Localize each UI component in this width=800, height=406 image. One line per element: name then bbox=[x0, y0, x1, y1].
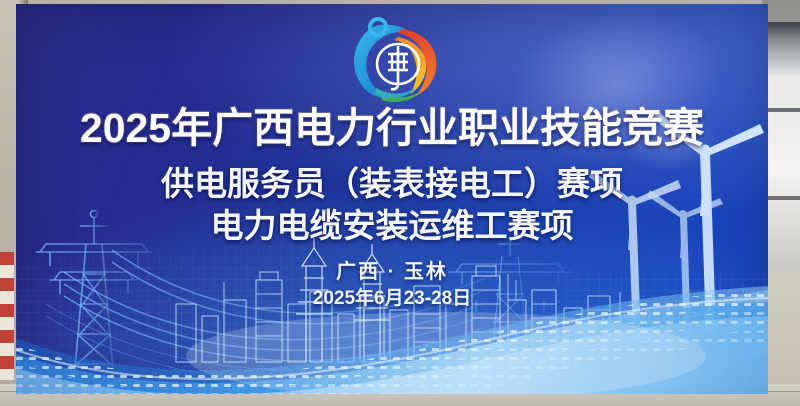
banner-text-block: 2025年广西电力行业职业技能竞赛 供电服务员（装表接电工）赛项 电力电缆安装运… bbox=[16, 4, 768, 394]
banner-subtitle-2: 电力电缆安装运维工赛项 bbox=[16, 209, 768, 242]
banner-location: 广西 · 玉林 bbox=[16, 262, 768, 282]
window-mullion bbox=[764, 108, 800, 112]
right-window bbox=[764, 22, 800, 272]
logo-emblem bbox=[377, 44, 419, 89]
banner-date: 2025年6月23-28日 bbox=[16, 289, 768, 308]
event-backdrop-banner: 2025年广西电力行业职业技能竞赛 供电服务员（装表接电工）赛项 电力电缆安装运… bbox=[16, 4, 768, 394]
red-striped-post bbox=[0, 252, 14, 380]
window-mullion bbox=[764, 196, 800, 200]
banner-title: 2025年广西电力行业职业技能竞赛 bbox=[16, 108, 768, 149]
photograph: 2025年广西电力行业职业技能竞赛 供电服务员（装表接电工）赛项 电力电缆安装运… bbox=[0, 0, 800, 406]
banner-subtitle-1: 供电服务员（装表接电工）赛项 bbox=[16, 167, 768, 200]
china-southern-power-grid-logo bbox=[338, 12, 446, 108]
